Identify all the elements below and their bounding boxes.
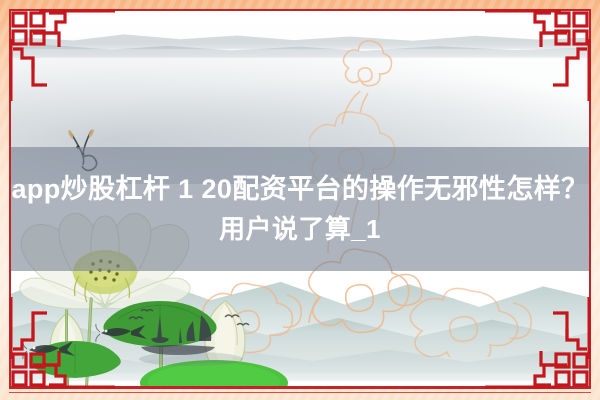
- corner-ornament-bottom-right: [483, 293, 591, 389]
- corner-ornament-bottom-left: [9, 293, 117, 389]
- page-title: app炒股杠杆 1 20配资平台的操作无邪性怎样？ 用户说了算_1: [9, 147, 591, 271]
- headline-line-1: app炒股杠杆 1 20配资平台的操作无邪性怎样？: [11, 169, 588, 209]
- headline-line-2: 用户说了算_1: [219, 209, 381, 249]
- corner-ornament-top-left: [9, 9, 117, 105]
- frame-rule-bottom-secondary: [9, 392, 591, 393]
- poster-image: app炒股杠杆 1 20配资平台的操作无邪性怎样？ 用户说了算_1: [0, 0, 600, 400]
- corner-ornament-top-right: [483, 9, 591, 105]
